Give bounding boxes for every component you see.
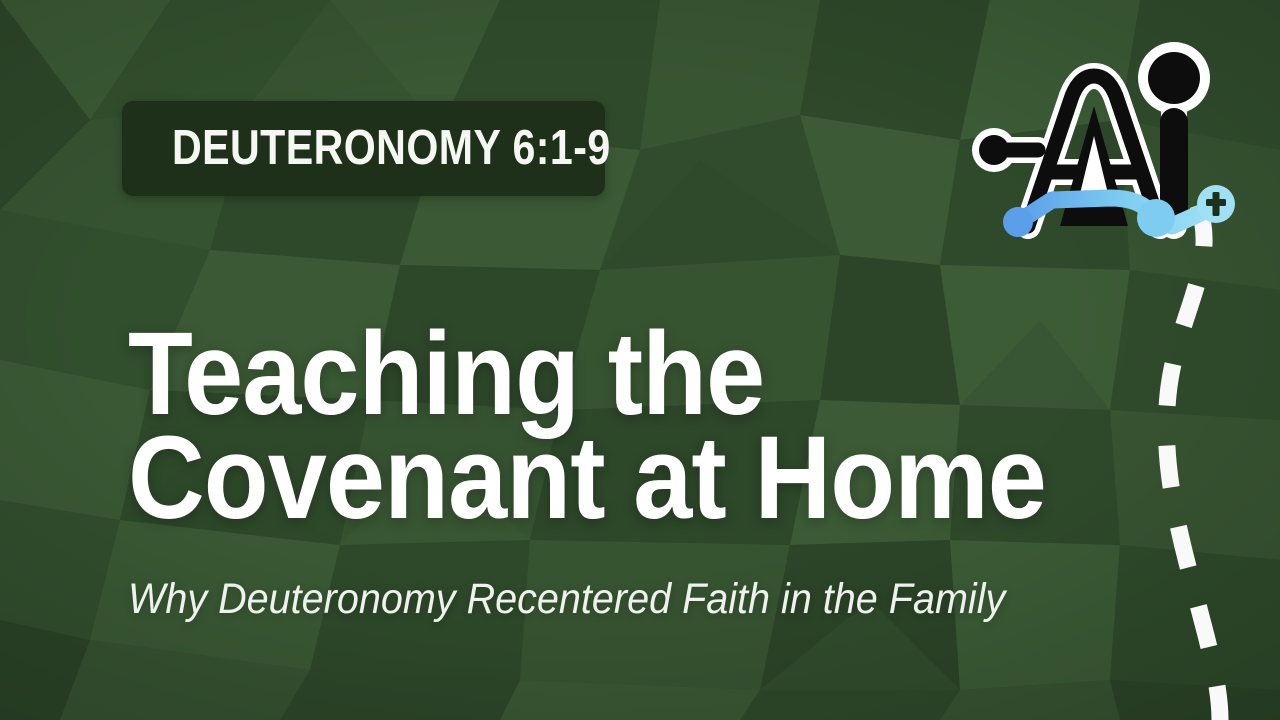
network-node-2 [1137,199,1175,237]
scripture-reference-label: DEUTERONOMY 6:1-9 [172,124,611,173]
scripture-reference-badge[interactable]: DEUTERONOMY 6:1-9 [122,101,605,196]
logo-i-dot [1148,52,1200,104]
network-node-1 [1003,207,1033,237]
page-title: Teaching the Covenant at Home [128,322,1128,530]
title-slide: DEUTERONOMY 6:1-9 Teaching the Covenant … [0,0,1280,720]
logo-left-node [979,135,1009,165]
ai-faith-network-logo[interactable] [960,30,1250,260]
subtitle: Why Deuteronomy Recentered Faith in the … [128,575,1005,624]
title-line-2: Covenant at Home [128,426,1028,530]
title-line-1: Teaching the [128,322,1028,426]
